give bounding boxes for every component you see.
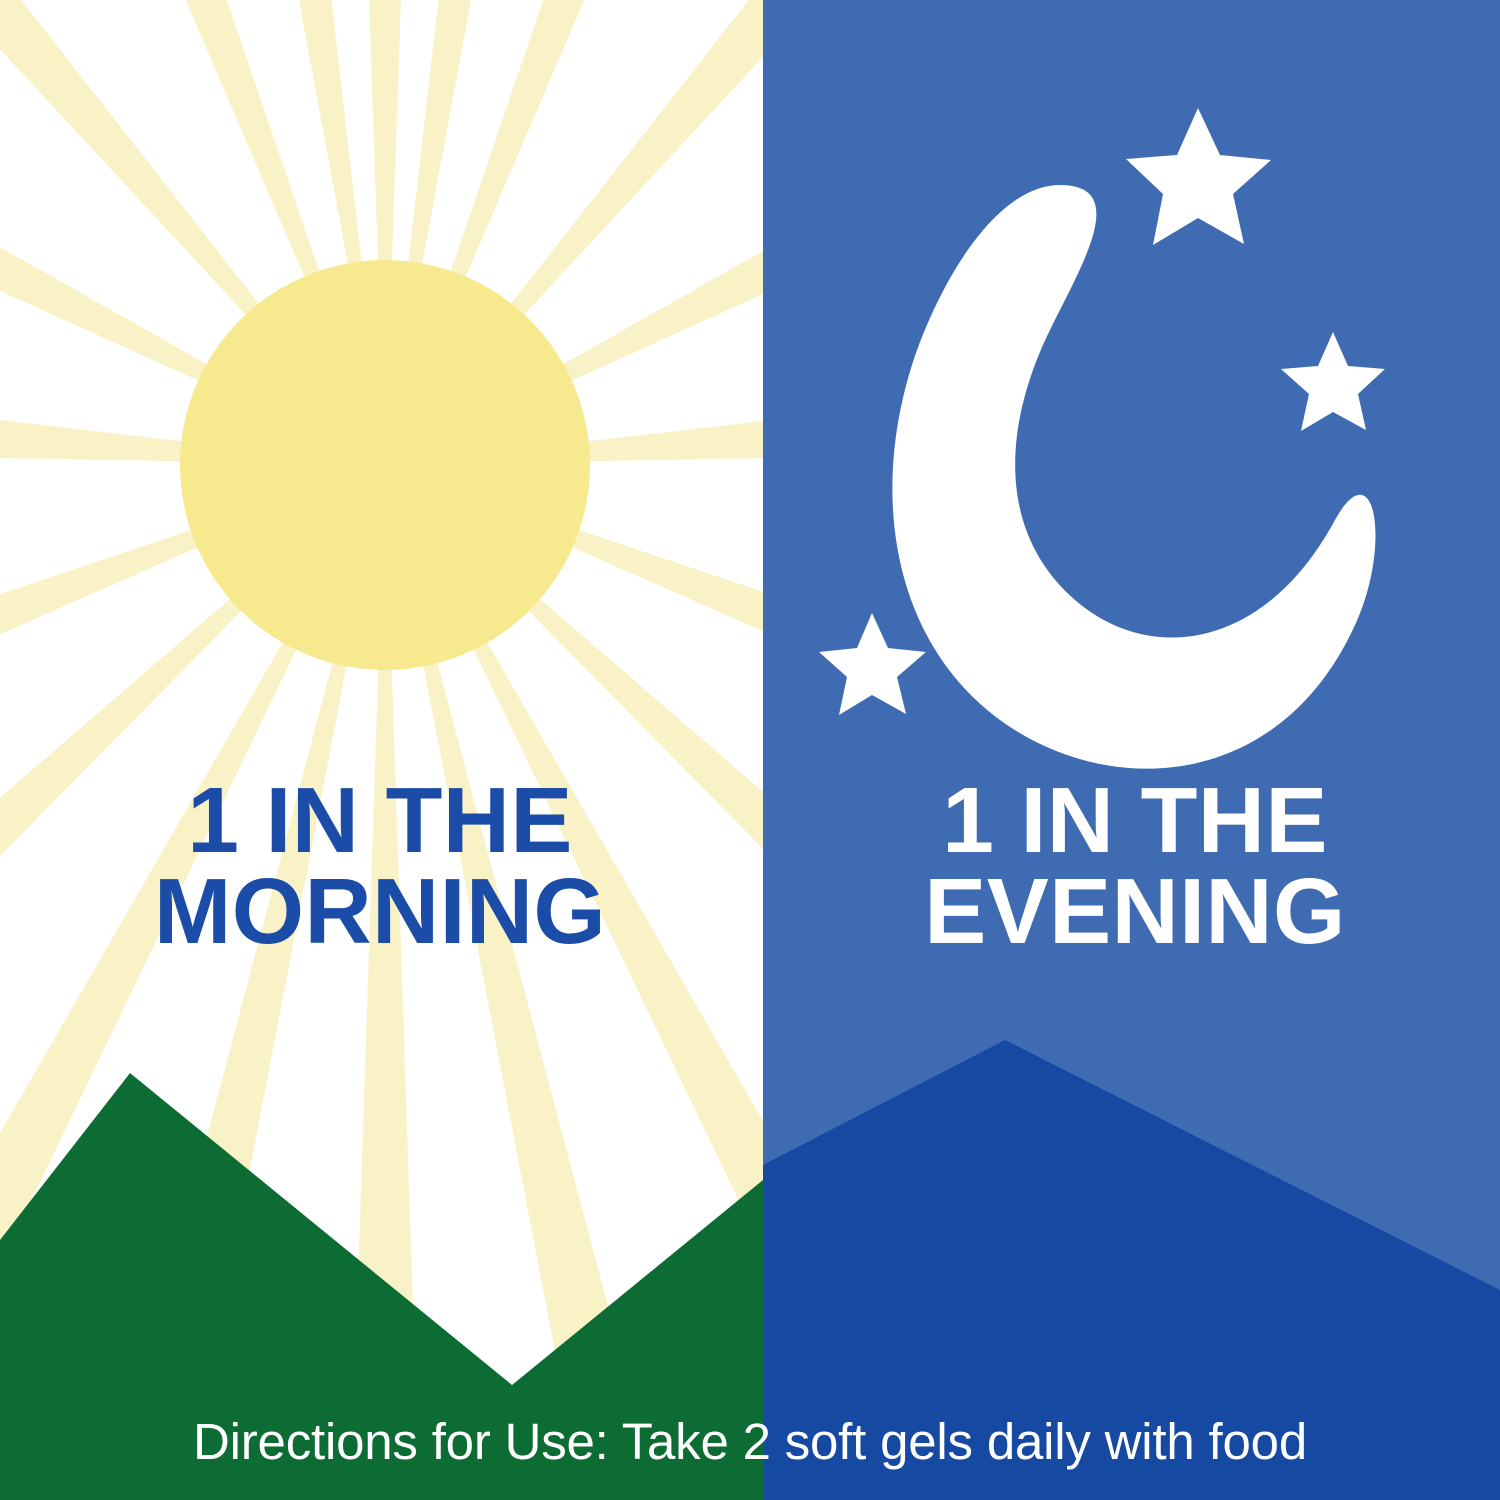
background-artwork: [0, 0, 1500, 1500]
infographic-canvas: 1 IN THE MORNING 1 IN THE EVENING Direct…: [0, 0, 1500, 1500]
sun-disc: [180, 260, 590, 670]
evening-panel-art: [763, 0, 1500, 1500]
morning-dose-label: 1 IN THE MORNING: [20, 775, 740, 957]
directions-for-use-text: Directions for Use: Take 2 soft gels dai…: [0, 1412, 1500, 1471]
evening-dose-label: 1 IN THE EVENING: [790, 775, 1480, 957]
